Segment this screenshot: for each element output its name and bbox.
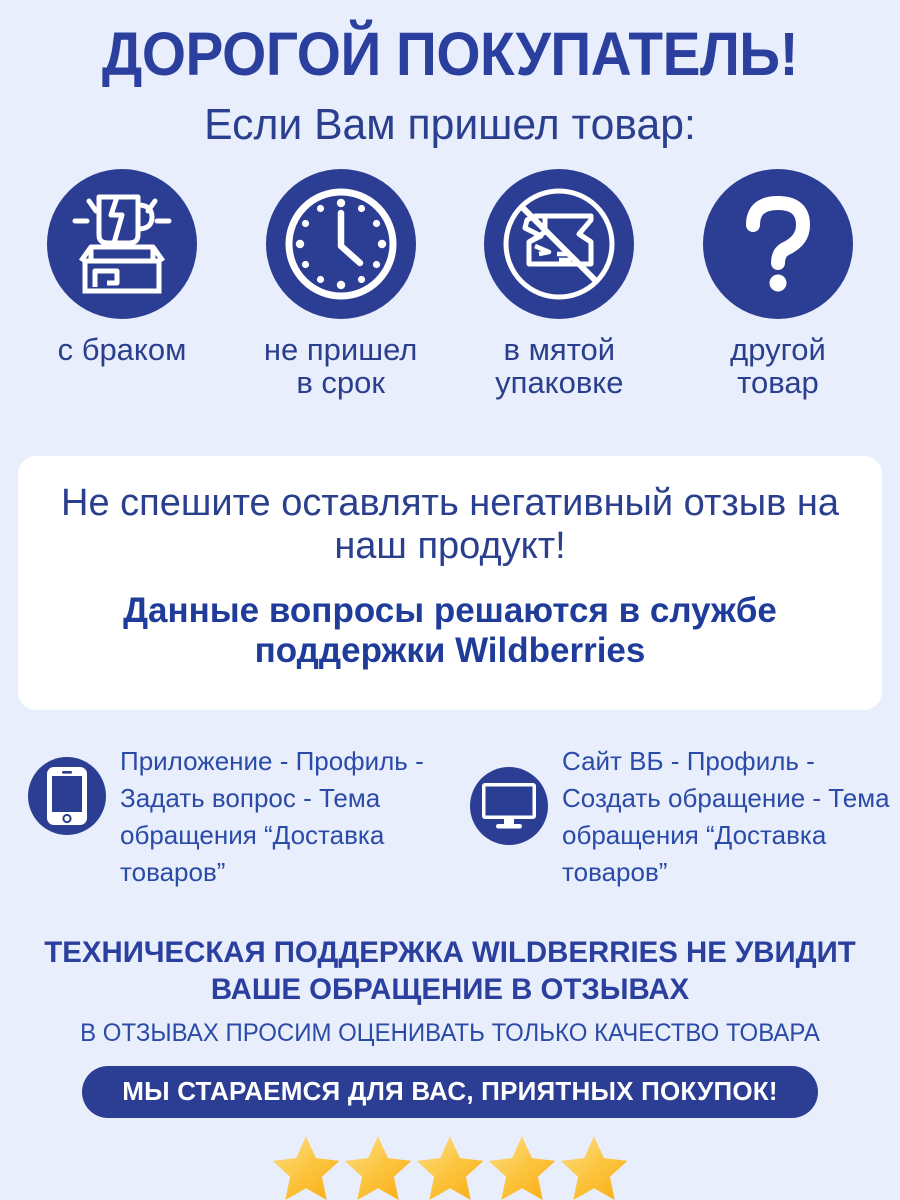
icon-circle [47,169,197,319]
no-crumpled-package-icon [495,180,623,308]
notice-lead-text: Не спешите оставлять негативный отзыв на… [52,482,848,569]
problem-caption: не пришел в срок [264,333,418,400]
channel-app: Приложение - Профиль - Задать вопрос - Т… [20,735,470,891]
problem-caption: с браком [58,333,187,366]
notice-card: Не спешите оставлять негативный отзыв на… [18,456,882,710]
problem-item-defective: с браком [24,169,220,400]
footer-heading: ТЕХНИЧЕСКАЯ ПОДДЕРЖКА WILDBERRIES НЕ УВИ… [9,935,891,1008]
star-icon [488,1134,556,1200]
icon-circle [484,169,634,319]
footer-block: ТЕХНИЧЕСКАЯ ПОДДЕРЖКА WILDBERRIES НЕ УВИ… [0,935,900,1200]
star-icon [272,1134,340,1200]
page-title: ДОРОГОЙ ПОКУПАТЕЛЬ! [32,0,869,85]
cta-button[interactable]: МЫ СТАРАЕМСЯ ДЛЯ ВАС, ПРИЯТНЫХ ПОКУПОК! [82,1066,818,1118]
star-icon [344,1134,412,1200]
problem-caption: в мятой упаковке [495,333,623,400]
star-icon [560,1134,628,1200]
smartphone-icon [45,765,89,827]
icon-circle [28,757,106,835]
channel-site-text: Сайт ВБ - Профиль - Создать обращение - … [562,735,892,891]
question-mark-icon [723,189,833,299]
notice-bold-text: Данные вопросы решаются в службе поддерж… [52,591,848,672]
icon-circle [266,169,416,319]
promo-banner: ДОРОГОЙ ПОКУПАТЕЛЬ! Если Вам пришел това… [0,0,900,1200]
problem-caption: другой товар [730,333,826,400]
clock-icon [280,183,402,305]
star-icon [416,1134,484,1200]
support-channels: Приложение - Профиль - Задать вопрос - Т… [0,735,900,891]
star-rating [0,1134,900,1200]
page-subtitle: Если Вам пришел товар: [14,103,887,147]
footer-subheading: В ОТЗЫВАХ ПРОСИМ ОЦЕНИВАТЬ ТОЛЬКО КАЧЕСТ… [18,1020,882,1048]
problem-item-late: не пришел в срок [243,169,439,400]
problem-item-crumpled: в мятой упаковке [461,169,657,400]
problem-item-wrong: другой товар [680,169,876,400]
icon-circle [470,767,548,845]
broken-cup-in-box-icon [67,189,177,299]
icon-circle [703,169,853,319]
monitor-icon [480,781,538,831]
channel-site: Сайт ВБ - Профиль - Создать обращение - … [470,735,892,891]
channel-app-text: Приложение - Профиль - Задать вопрос - Т… [120,735,470,891]
problem-icon-row: с браком [0,169,900,400]
